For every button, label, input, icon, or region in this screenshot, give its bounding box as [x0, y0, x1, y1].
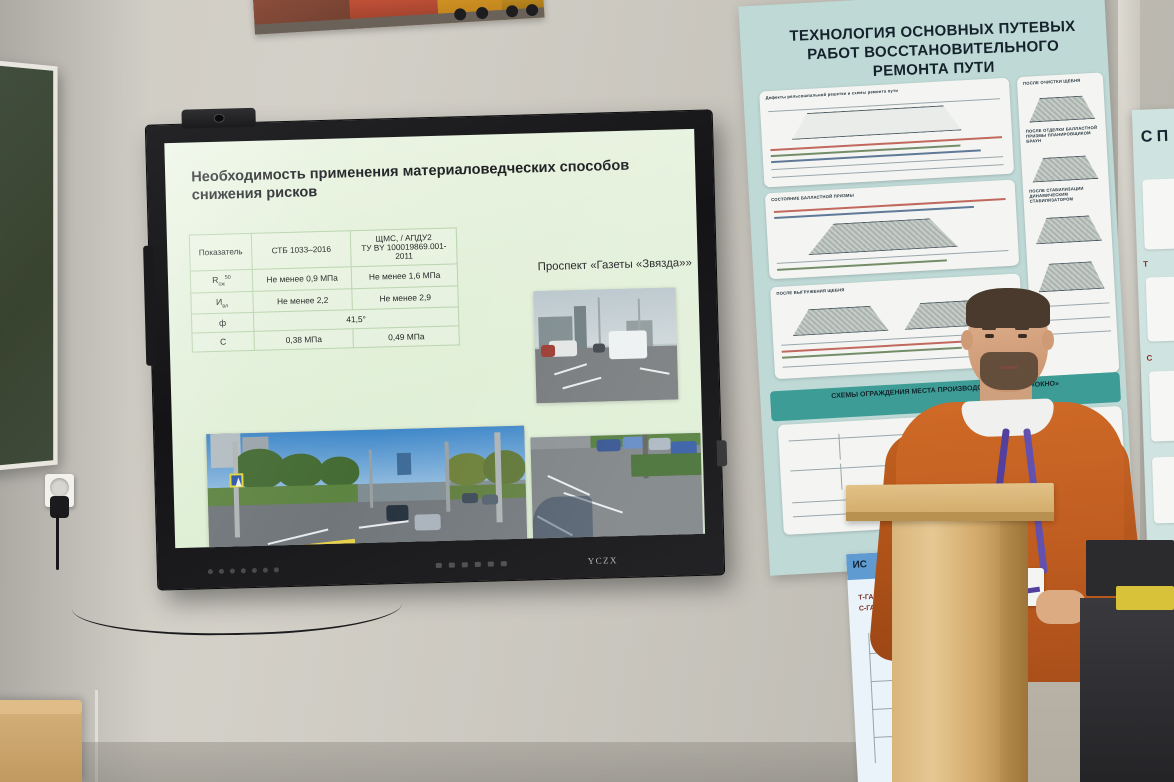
presenter-eye-right: [1018, 334, 1027, 338]
row-label-phi: ф: [191, 313, 253, 334]
dark-chair: [1080, 598, 1174, 782]
green-chalkboard: [0, 58, 58, 473]
cell-b: Не менее 1,6 МПа: [352, 264, 458, 289]
road-parking-photo: [530, 433, 703, 548]
header-standard-a: СТБ 1033–2016: [251, 231, 351, 270]
vol-up-button[interactable]: [252, 568, 257, 573]
cell-b: Не менее 2,9: [352, 286, 458, 311]
power-button[interactable]: [208, 569, 213, 574]
poster-right-sheet: [1149, 368, 1174, 441]
header-b-line2: ТУ BY 100019869.001-2011: [361, 242, 446, 261]
photo-caption: Проспект «Газеты «Звязда»»: [520, 257, 705, 274]
presenter-eye-left: [985, 334, 994, 338]
audio-icon: [475, 562, 481, 567]
row-label-c: С: [192, 332, 254, 353]
presenter-ear-left: [961, 330, 973, 350]
poster-right-sheet: [1146, 274, 1174, 341]
presenter-mouth: [1000, 366, 1018, 369]
sheet-caption: ПОСЛЕ ОЧИСТКИ ЩЕБНЯ: [1023, 77, 1097, 86]
lecture-hall-scene: ТЕХНОЛОГИЯ ОСНОВНЫХ ПУТЕВЫХ РАБОТ ВОССТА…: [0, 0, 1174, 782]
usb-icon: [436, 563, 442, 568]
source-button[interactable]: [230, 568, 235, 573]
presenter-hair: [966, 288, 1050, 328]
display-port-icons: [436, 561, 507, 568]
sensor-icon: [501, 561, 507, 566]
menu-button[interactable]: [219, 569, 224, 574]
power-plug[interactable]: [50, 496, 69, 518]
display-side-right: [717, 440, 728, 466]
row-label-sup: 50: [225, 275, 231, 281]
poster-sheet-defects: Дефекты рельсошпальной решетки и схемы р…: [759, 78, 1014, 188]
presenter-brow-right: [1015, 327, 1029, 330]
header-indicator: Показатель: [189, 233, 252, 271]
poster-right-sheet: [1142, 176, 1174, 249]
webcam-lens-icon: [214, 114, 225, 123]
interactive-display[interactable]: Необходимость применения материаловедчес…: [146, 110, 724, 589]
wooden-desk-top: [0, 700, 82, 714]
podium-column: [892, 518, 1008, 782]
vga-icon: [462, 562, 468, 567]
presentation-slide: Необходимость применения материаловедчес…: [164, 129, 705, 548]
slide-title: Необходимость применения материаловедчес…: [191, 155, 682, 205]
bus-street-photo: [533, 287, 678, 403]
row-label-sub: сж: [218, 281, 225, 287]
row-label-ivl: Ивл: [191, 291, 253, 314]
wooden-podium: [846, 484, 1062, 782]
ch-up-button[interactable]: [274, 567, 279, 572]
poster-right-sheet: [1152, 454, 1174, 523]
power-led-icon: [488, 561, 494, 566]
podium-column-side: [1000, 518, 1028, 782]
comparison-table: Показатель СТБ 1033–2016 ЩМС, / АПДУ2 ТУ…: [189, 227, 460, 353]
row-label-sub: вл: [222, 303, 228, 309]
chalkboard-surface: [0, 63, 53, 467]
presenter-brow-left: [982, 327, 996, 330]
poster-right-label: С: [1146, 354, 1152, 363]
yellow-case: [1116, 586, 1174, 610]
sheet-caption: Дефекты рельсошпальной решетки и схемы р…: [765, 82, 1003, 100]
power-cord: [56, 514, 59, 570]
ch-down-button[interactable]: [263, 568, 268, 573]
presenter-ear-right: [1042, 330, 1054, 350]
cell-a: Не менее 2,2: [253, 288, 353, 312]
sheet-caption: ПОСЛЕ ОТДЕЛКИ БАЛЛАСТНОЙ ПРИЗМЫ ПЛАНИРОВ…: [1026, 125, 1101, 144]
cell-b: 0,49 МПа: [353, 326, 459, 348]
sheet-caption: ПОСЛЕ СТАБИЛИЗАЦИИ ДИНАМИЧЕСКИМ СТАБИЛИЗ…: [1029, 185, 1104, 204]
header-standard-b: ЩМС, / АПДУ2 ТУ BY 100019869.001-2011: [351, 228, 458, 267]
presenter-beard: [980, 352, 1038, 390]
display-buttons[interactable]: [208, 567, 279, 574]
wide-avenue-photo: [206, 426, 528, 548]
poster-sheet-ballast-1: СОСТОЯНИЕ БАЛЛАСТНОЙ ПРИЗМЫ: [765, 180, 1019, 280]
cell-a: Не менее 0,9 МПа: [252, 267, 352, 291]
podium-desktop-edge: [846, 512, 1054, 521]
cell-a: 0,38 МПа: [254, 329, 354, 351]
poster-right-label: Т: [1143, 260, 1148, 269]
row-label-rsj: Rсж50: [190, 269, 252, 292]
hdmi-icon: [449, 563, 455, 568]
webcam[interactable]: [181, 108, 255, 129]
display-brand-logo: YCZX: [588, 555, 618, 566]
poster-right-title: С П: [1140, 127, 1168, 149]
outlet-socket: [50, 478, 69, 497]
display-screen[interactable]: Необходимость применения материаловедчес…: [164, 129, 705, 548]
vol-down-button[interactable]: [241, 568, 246, 573]
